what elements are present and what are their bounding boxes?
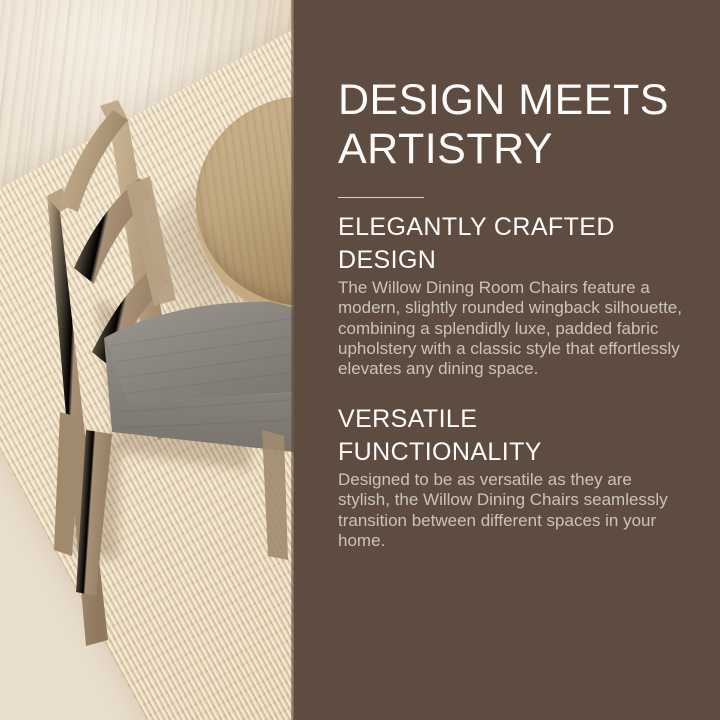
section-title-versatile-functionality: VERSATILE FUNCTIONALITY: [338, 403, 682, 468]
section-title-elegantly-crafted-design: ELEGANTLY CRAFTED DESIGN: [338, 211, 682, 276]
section-body-versatile-functionality: Designed to be as versatile as they are …: [338, 470, 682, 551]
product-photo: [0, 0, 294, 720]
title-divider-rule: [338, 197, 424, 198]
chair-leg-right: [262, 430, 288, 560]
section-spacer: [338, 379, 682, 403]
product-feature-poster: DESIGN MEETS ARTISTRY ELEGANTLY CRAFTED …: [0, 0, 720, 720]
dining-chair: [0, 0, 294, 720]
text-panel: DESIGN MEETS ARTISTRY ELEGANTLY CRAFTED …: [294, 0, 720, 720]
page-title: DESIGN MEETS ARTISTRY: [338, 0, 682, 173]
section-body-elegantly-crafted-design: The Willow Dining Room Chairs feature a …: [338, 278, 682, 379]
